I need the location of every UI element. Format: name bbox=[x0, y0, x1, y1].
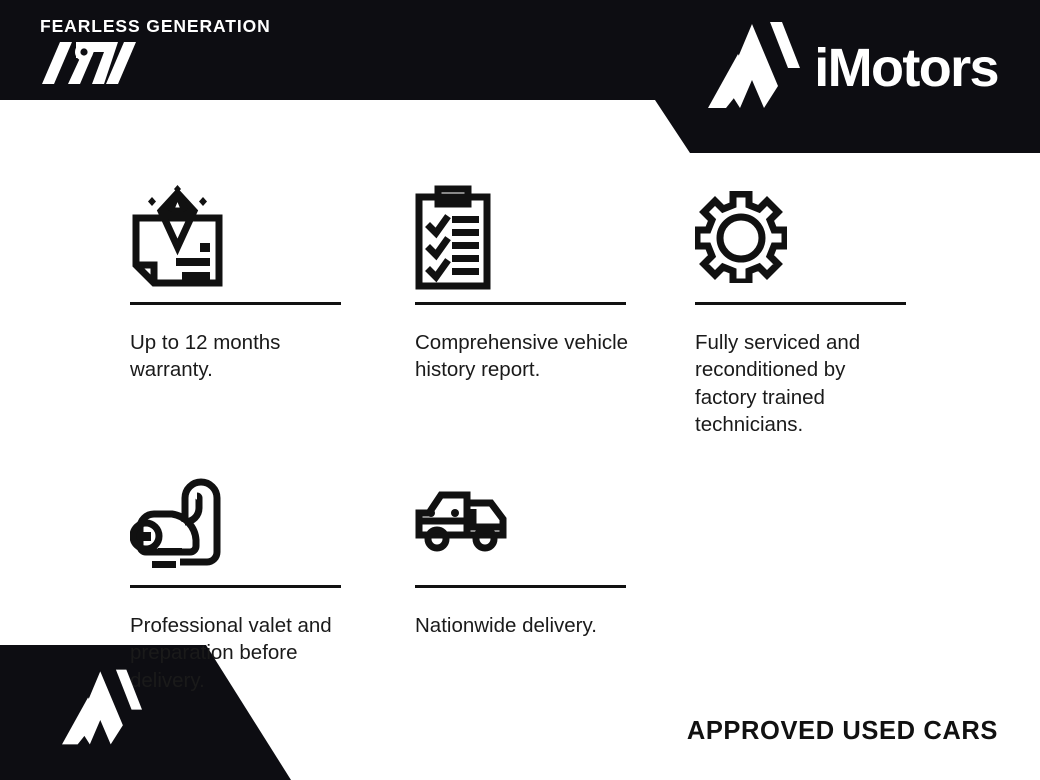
feature-item: Fully serviced and reconditioned by fact… bbox=[695, 182, 920, 439]
year-1971-logo bbox=[40, 42, 271, 89]
promo-page: FEARLESS GENERATION bbox=[0, 0, 1040, 780]
feature-label: Up to 12 months warranty. bbox=[130, 329, 360, 384]
feature-item: Comprehensive vehicle history report. bbox=[415, 182, 695, 439]
vacuum-cleaner-icon bbox=[130, 465, 385, 575]
car-transporter-truck-icon bbox=[415, 465, 665, 575]
brand-name: iMotors bbox=[814, 41, 998, 95]
feature-divider bbox=[415, 302, 626, 305]
footer-tagline: APPROVED USED CARS bbox=[687, 717, 998, 746]
gear-cog-icon bbox=[695, 182, 890, 292]
feature-label: Professional valet and preparation befor… bbox=[130, 612, 360, 694]
feature-item: Up to 12 months warranty. bbox=[130, 182, 415, 439]
feature-divider bbox=[130, 585, 341, 588]
header-left-branding: FEARLESS GENERATION bbox=[40, 18, 271, 89]
feature-item-empty bbox=[695, 439, 920, 694]
feature-divider bbox=[130, 302, 341, 305]
feature-item: Professional valet and preparation befor… bbox=[130, 439, 415, 694]
fearless-generation-tagline: FEARLESS GENERATION bbox=[40, 18, 271, 36]
warranty-certificate-diamond-icon bbox=[130, 182, 385, 292]
feature-label: Comprehensive vehicle history report. bbox=[415, 329, 645, 384]
imotors-chevron-logo-icon bbox=[62, 668, 142, 751]
feature-label: Nationwide delivery. bbox=[415, 612, 645, 639]
clipboard-checklist-icon bbox=[415, 182, 665, 292]
features-grid: Up to 12 months warranty. bbox=[130, 182, 920, 694]
feature-divider bbox=[695, 302, 906, 305]
imotors-chevron-logo-icon bbox=[708, 22, 800, 113]
feature-item: Nationwide delivery. bbox=[415, 439, 695, 694]
feature-divider bbox=[415, 585, 626, 588]
feature-label: Fully serviced and reconditioned by fact… bbox=[695, 329, 890, 439]
header-brand-lockup: iMotors bbox=[708, 22, 998, 113]
